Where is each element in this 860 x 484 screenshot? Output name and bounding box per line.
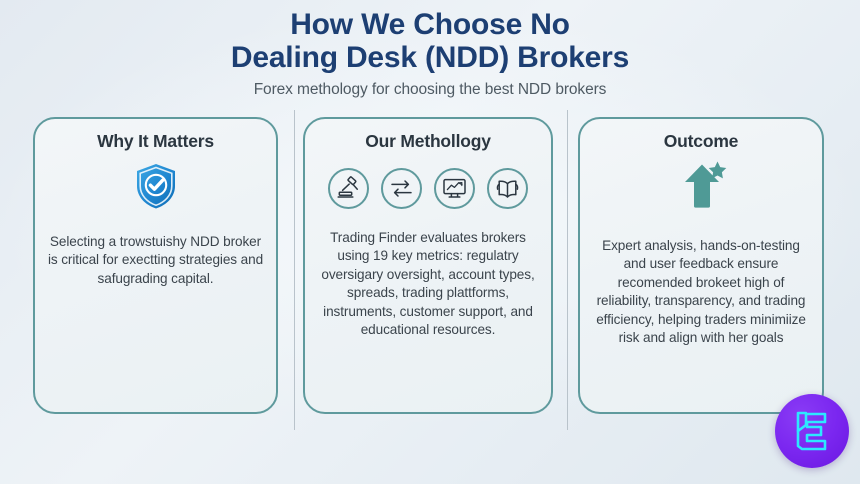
- methodology-icon-row: [328, 168, 528, 209]
- page-subtitle: Forex methology for choosing the best ND…: [0, 81, 860, 99]
- card-title: Our Methollogy: [315, 131, 541, 151]
- shield-check-icon: [130, 160, 182, 217]
- page-title-line-2: Dealing Desk (NDD) Brokers: [0, 41, 860, 74]
- card-title: Why It Matters: [45, 131, 266, 151]
- header: How We Choose No Dealing Desk (NDD) Brok…: [0, 8, 860, 99]
- card-body: Trading Finder evaluates brokers using 1…: [315, 229, 541, 339]
- up-arrow-star-icon: [670, 158, 732, 219]
- monitor-chart-icon: [434, 168, 475, 209]
- card-body: Selecting a trowstuishy NDD broker is cr…: [45, 233, 266, 288]
- card-body: Expert analysis, hands-on-testing and us…: [590, 237, 812, 347]
- exchange-arrows-icon: [381, 168, 422, 209]
- card-icon-area: [590, 157, 812, 219]
- card-icon-area: [315, 157, 541, 219]
- open-book-icon: [487, 168, 528, 209]
- card-why-it-matters: Why It Matters: [33, 117, 278, 414]
- page-title: How We Choose No Dealing Desk (NDD) Brok…: [0, 8, 860, 74]
- card-icon-area: [45, 157, 266, 219]
- infographic-canvas: How We Choose No Dealing Desk (NDD) Brok…: [0, 0, 860, 484]
- card-our-methodology: Our Methollogy: [303, 117, 553, 414]
- page-title-line-1: How We Choose No: [290, 8, 570, 41]
- cards-row: Why It Matters: [0, 117, 860, 417]
- card-title: Outcome: [590, 131, 812, 151]
- card-outcome: Outcome Expert analysis, hands-on-testin…: [578, 117, 824, 414]
- gavel-icon: [328, 168, 369, 209]
- trading-finder-logo[interactable]: [775, 394, 849, 468]
